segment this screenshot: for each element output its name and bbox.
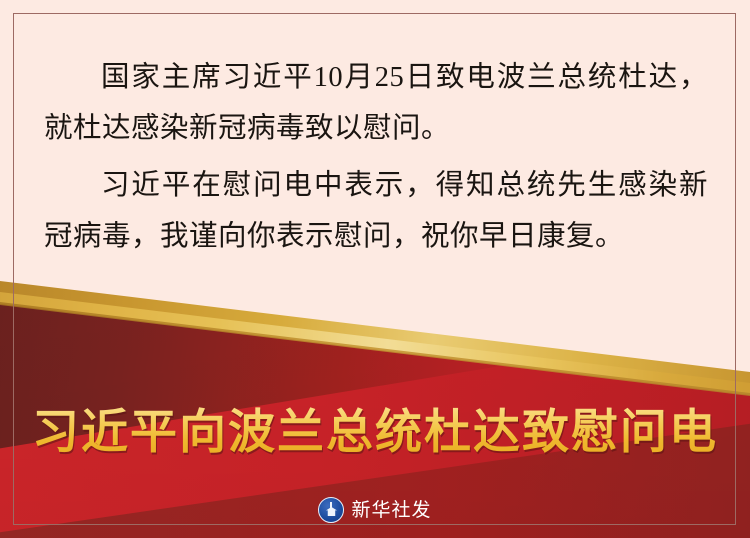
credit-line: 新华社发 [0,497,750,523]
credit-label: 新华社发 [351,498,431,522]
article-body: 国家主席习近平10月25日致电波兰总统杜达，就杜达感染新冠病毒致以慰问。 习近平… [44,52,708,268]
headline-title: 习近平向波兰总统杜达致慰问电 [0,404,750,462]
xinhua-emblem-icon [318,497,344,523]
news-poster: 国家主席习近平10月25日致电波兰总统杜达，就杜达感染新冠病毒致以慰问。 习近平… [0,0,750,538]
article-paragraph-2: 习近平在慰问电中表示，得知总统先生感染新冠病毒，我谨向你表示慰问，祝你早日康复。 [44,160,708,262]
article-paragraph-1: 国家主席习近平10月25日致电波兰总统杜达，就杜达感染新冠病毒致以慰问。 [44,52,708,154]
